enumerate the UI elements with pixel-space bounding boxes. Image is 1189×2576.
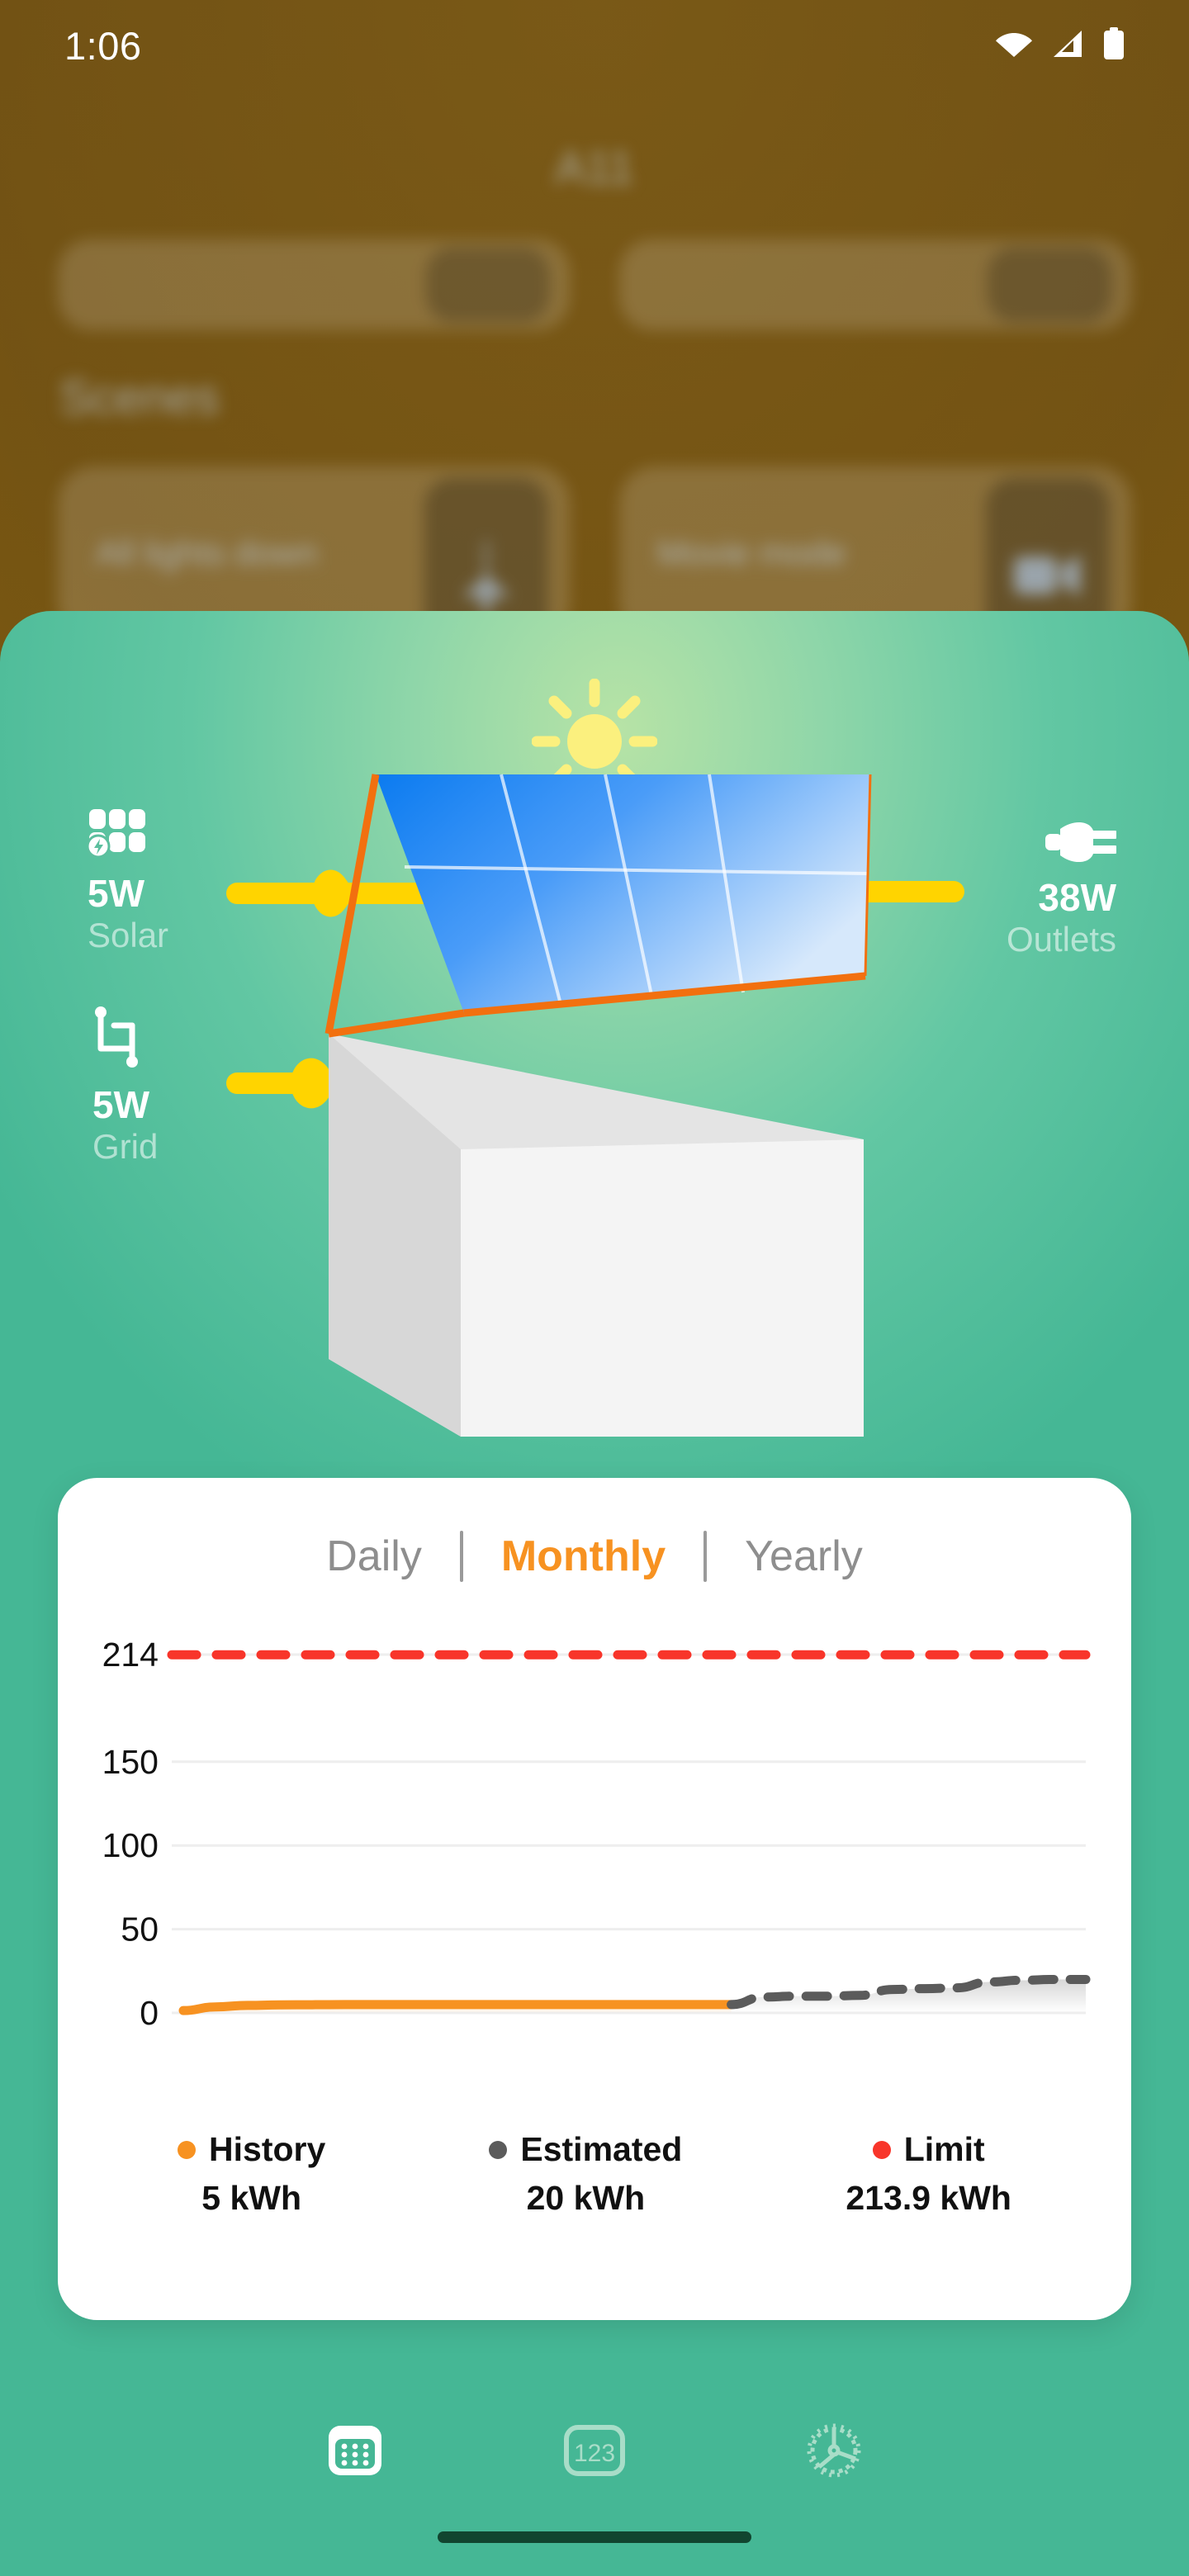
- status-time: 1:06: [64, 23, 141, 69]
- background-scene-label: Movie mode: [657, 533, 846, 573]
- legend-dot-history: [178, 2141, 196, 2159]
- chart-legend: History 5 kWh Estimated 20 kWh Limit 213…: [58, 2130, 1131, 2218]
- background-scenes-heading: Scenes: [59, 370, 219, 425]
- y-tick-label: 214: [102, 1636, 159, 1674]
- background-device-card: [58, 239, 570, 330]
- nav-calendar-button[interactable]: [314, 2411, 396, 2493]
- home-indicator: [438, 2531, 751, 2543]
- y-tick-label: 150: [102, 1743, 159, 1781]
- metric-grid-value: 5W: [92, 1084, 158, 1127]
- metric-solar-label: Solar: [88, 916, 168, 954]
- metric-grid[interactable]: 5W Grid: [92, 1006, 158, 1166]
- y-tick-label: 0: [140, 1994, 159, 2032]
- background-device-tile: [426, 248, 550, 322]
- solar-flow-indicator: [312, 870, 353, 917]
- background-device-tile: [988, 248, 1111, 322]
- legend-value-estimated: 20 kWh: [489, 2179, 682, 2218]
- legend-label-limit: Limit: [904, 2130, 985, 2169]
- metric-solar-value: 5W: [88, 873, 168, 916]
- signal-icon: [1050, 29, 1085, 63]
- metric-outlets[interactable]: 38W Outlets: [1007, 817, 1116, 959]
- background-scene-label: All lights down: [96, 533, 317, 573]
- y-tick-label: 100: [102, 1826, 159, 1864]
- legend-label-history: History: [209, 2130, 325, 2169]
- status-icons: [996, 27, 1125, 64]
- bottom-navigation-bar: 123: [0, 2378, 1189, 2526]
- tab-daily[interactable]: Daily: [288, 1532, 460, 1581]
- metric-solar[interactable]: 5W Solar: [88, 809, 168, 954]
- nav-settings-button[interactable]: [793, 2411, 875, 2493]
- legend-item-estimated: Estimated 20 kWh: [489, 2130, 682, 2218]
- metric-outlets-label: Outlets: [1007, 920, 1116, 959]
- chart-svg: 050100150214: [58, 1635, 1131, 2056]
- chart-plot-area[interactable]: 050100150214: [58, 1635, 1131, 2056]
- tab-monthly[interactable]: Monthly: [463, 1532, 703, 1581]
- energy-sheet: 5W Solar 5W Grid 38W Outlets Daily: [0, 611, 1189, 2576]
- y-tick-label: 50: [121, 1911, 159, 1949]
- energy-flow-illustration: [0, 611, 1189, 1445]
- legend-dot-estimated: [489, 2141, 507, 2159]
- background-device-row: [58, 239, 1131, 330]
- metric-outlets-value: 38W: [1007, 877, 1116, 920]
- battery-icon: [1103, 27, 1125, 64]
- metric-grid-label: Grid: [92, 1127, 158, 1166]
- legend-label-estimated: Estimated: [520, 2130, 682, 2169]
- plug-icon: [1007, 817, 1116, 867]
- solar-panel-icon: [88, 809, 168, 861]
- gear-icon: [803, 2419, 865, 2486]
- chart-period-tabs: Daily Monthly Yearly: [58, 1478, 1131, 1582]
- tab-yearly[interactable]: Yearly: [707, 1532, 901, 1581]
- background-device-card: [619, 239, 1131, 330]
- background-app-title: A11: [0, 140, 1189, 194]
- legend-value-limit: 213.9 kWh: [846, 2179, 1011, 2218]
- legend-dot-limit: [873, 2141, 891, 2159]
- power-grid-icon: [92, 1006, 158, 1073]
- legend-item-history: History 5 kWh: [178, 2130, 325, 2218]
- legend-value-history: 5 kWh: [178, 2179, 325, 2218]
- energy-chart-card: Daily Monthly Yearly 050100150214 Histor…: [58, 1478, 1131, 2320]
- status-bar: 1:06: [0, 0, 1189, 91]
- nav-numbers-button[interactable]: 123: [553, 2411, 636, 2493]
- legend-item-limit: Limit 213.9 kWh: [846, 2130, 1011, 2218]
- numbers-123-icon: 123: [563, 2421, 626, 2484]
- svg-text:123: 123: [574, 2440, 615, 2467]
- wifi-icon: [996, 30, 1032, 62]
- calendar-icon: [325, 2421, 385, 2484]
